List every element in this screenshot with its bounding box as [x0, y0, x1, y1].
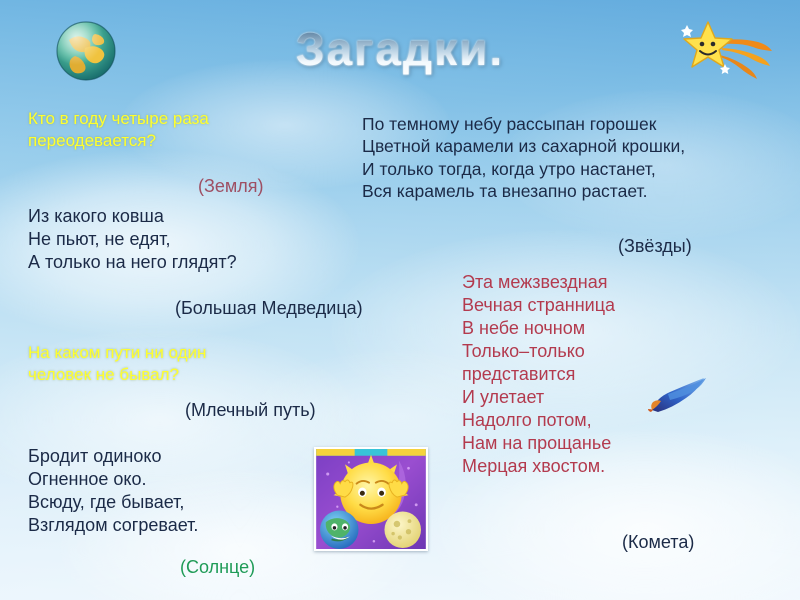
riddle-text-2: Из какого ковша Не пьют, не едят, А толь… [28, 205, 358, 274]
earth-globe-icon [55, 20, 117, 82]
riddle-answer-3: (Млечный путь) [185, 400, 316, 421]
riddle-answer-2: (Большая Медведица) [175, 298, 363, 319]
riddle-text-3: На каком пути ни один человек не бывал? [28, 342, 328, 386]
riddle-text-4: Бродит одиноко Огненное око. Всюду, где … [28, 445, 318, 537]
riddle-answer-4: (Солнце) [180, 557, 255, 578]
shooting-star-icon [678, 16, 774, 82]
riddle-answer-5: (Звёзды) [618, 236, 692, 257]
riddle-text-1: Кто в году четыре раза переодевается? [28, 108, 328, 152]
cartoon-sun-picture [314, 447, 428, 551]
riddle-answer-6: (Комета) [622, 532, 694, 553]
slide-canvas: Загадки. [0, 0, 800, 600]
riddle-answer-1: (Земля) [198, 176, 264, 197]
riddle-text-5: По темному небу рассыпан горошек Цветной… [362, 113, 792, 203]
riddle-text-6: Эта межзвездная Вечная странница В небе … [462, 271, 712, 478]
